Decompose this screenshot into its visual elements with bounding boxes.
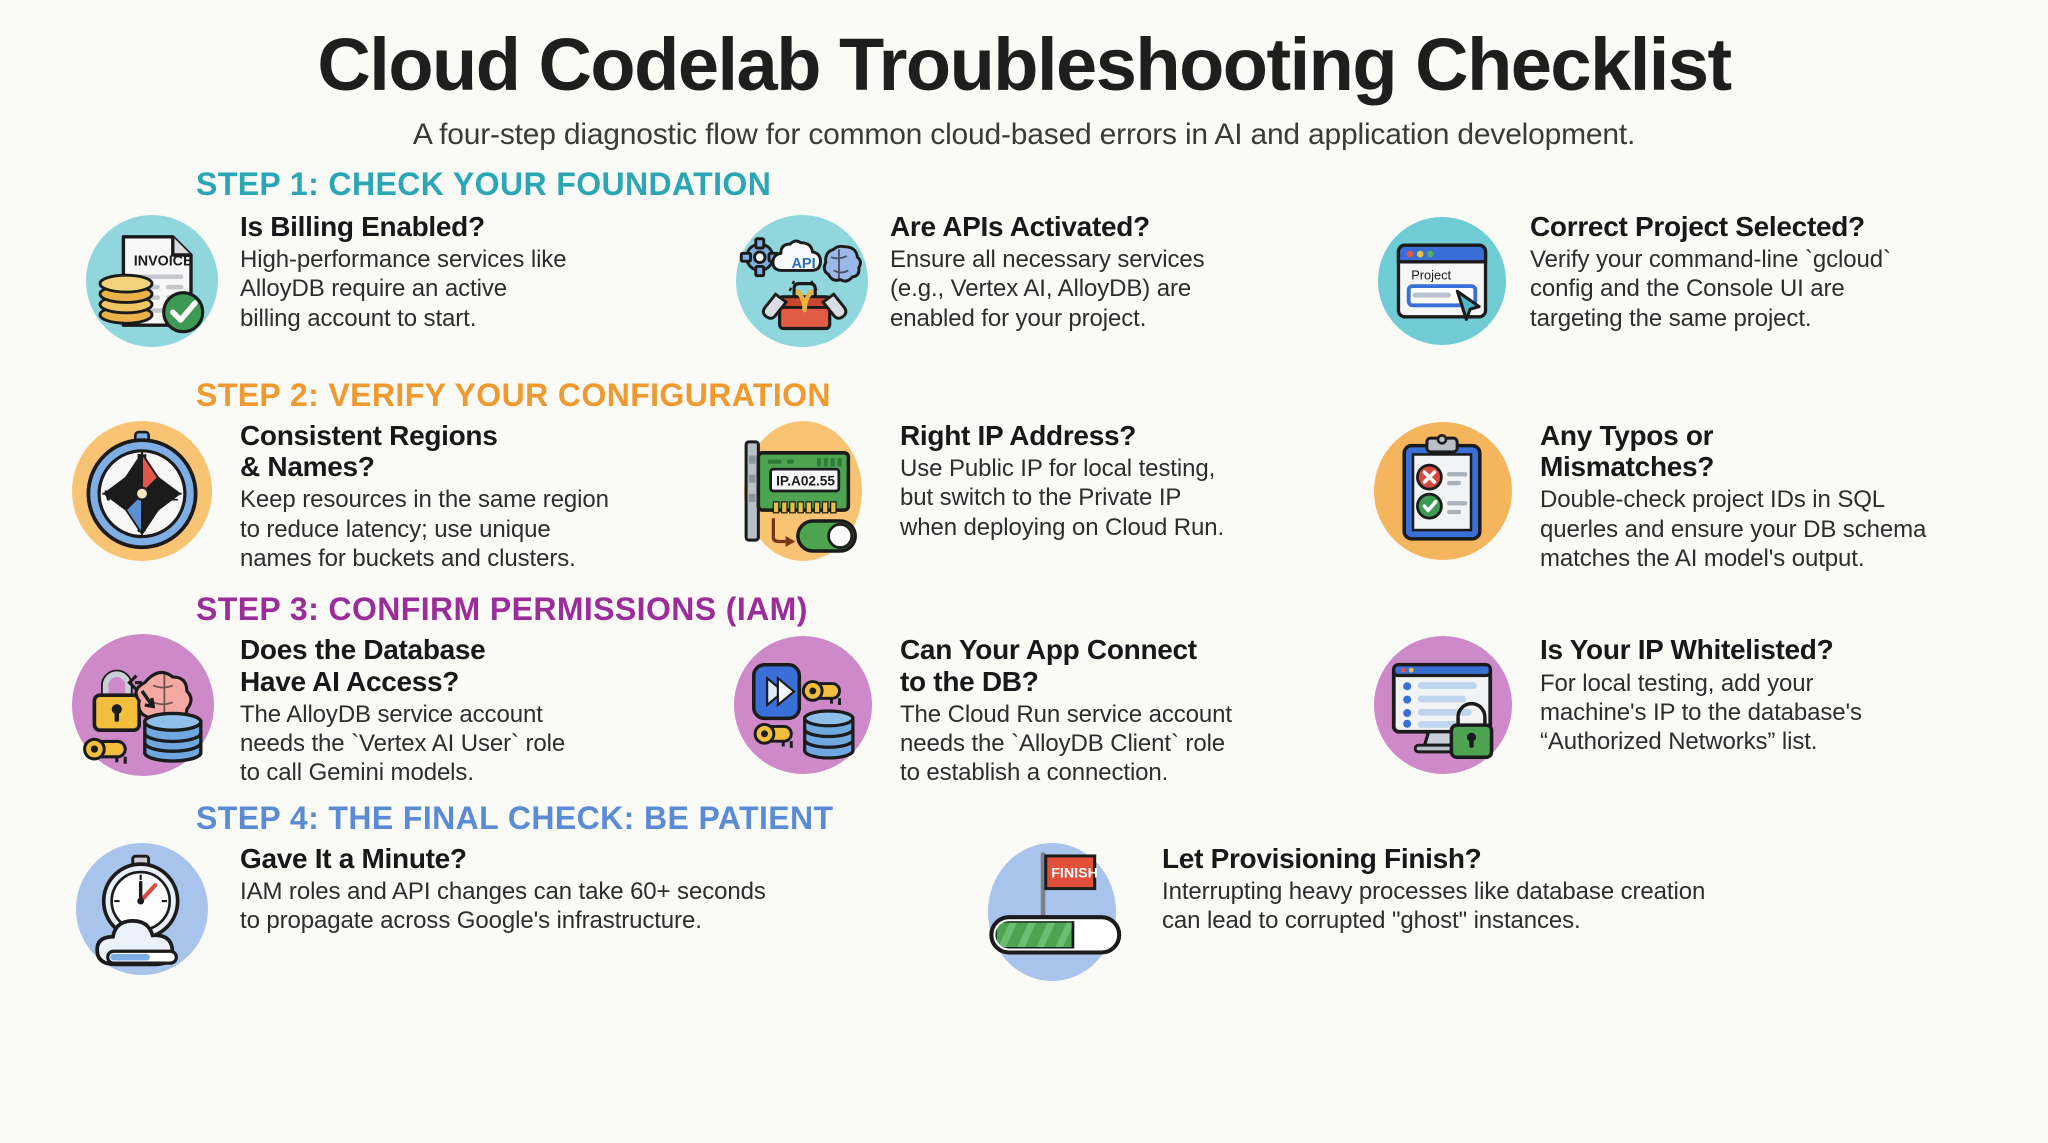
card-are-apis-activated[interactable]: API [728, 207, 1368, 355]
card-title: Is Your IP Whitelisted? [1540, 634, 1862, 665]
svg-text:Project: Project [1411, 267, 1451, 282]
app-key-database-icon [718, 630, 886, 780]
card-text: Let Provisioning Finish? Interrupting he… [1162, 839, 1705, 936]
card-text: Is Your IP Whitelisted? For local testin… [1540, 630, 1862, 756]
card-text: Consistent Regions & Names? Keep resourc… [240, 416, 609, 574]
card-body: Keep resources in the same region to red… [240, 485, 609, 573]
card-correct-project-selected[interactable]: Project Correct Project Selected? Verify… [1368, 207, 1968, 355]
card-let-provisioning-finish[interactable]: FINISH [968, 839, 2008, 979]
infographic-page: Cloud Codelab Troubleshooting Checklist … [0, 0, 2048, 1143]
card-body: For local testing, add your machine's IP… [1540, 669, 1862, 757]
step-2-row: N E S W [0, 416, 2048, 574]
card-right-ip-address[interactable]: IP.A02.55 Righ [718, 416, 1358, 566]
api-toolbox-icon: API [728, 207, 876, 355]
step-1-row: INVOICE [0, 207, 2048, 355]
network-card-ip-icon: IP.A02.55 [718, 416, 886, 566]
card-body: Use Public IP for local testing, but swi… [900, 454, 1224, 542]
card-body: The AlloyDB service account needs the `V… [240, 700, 565, 788]
card-title: Any Typos or Mismatches? [1540, 420, 1926, 483]
stopwatch-cloud-icon [58, 839, 226, 979]
step-3-section: STEP 3: CONFIRM PERMISSIONS (IAM) [0, 591, 2048, 788]
finish-flag-progress-icon: FINISH [968, 839, 1148, 979]
card-body: Verify your command-line `gcloud` config… [1530, 245, 1891, 333]
card-title: Is Billing Enabled? [240, 211, 566, 242]
card-body: Interrupting heavy processes like databa… [1162, 877, 1705, 936]
card-is-your-ip-whitelisted[interactable]: Is Your IP Whitelisted? For local testin… [1358, 630, 1958, 780]
step-2-section: STEP 2: VERIFY YOUR CONFIGURATION N E S … [0, 377, 2048, 574]
card-body: IAM roles and API changes can take 60+ s… [240, 877, 766, 936]
card-title: Can Your App Connect to the DB? [900, 634, 1232, 697]
step-3-heading: STEP 3: CONFIRM PERMISSIONS (IAM) [196, 591, 2048, 628]
page-title: Cloud Codelab Troubleshooting Checklist [0, 0, 2048, 104]
card-gave-it-a-minute[interactable]: Gave It a Minute? IAM roles and API chan… [58, 839, 918, 979]
card-body: Ensure all necessary services (e.g., Ver… [890, 245, 1205, 333]
card-body: The Cloud Run service account needs the … [900, 700, 1232, 788]
step-1-section: STEP 1: CHECK YOUR FOUNDATION INVOICE [0, 166, 2048, 355]
card-text: Are APIs Activated? Ensure all necessary… [890, 207, 1205, 333]
card-text: Any Typos or Mismatches? Double-check pr… [1540, 416, 1926, 574]
step-4-heading: STEP 4: THE FINAL CHECK: BE PATIENT [196, 800, 2048, 837]
card-title: Let Provisioning Finish? [1162, 843, 1705, 874]
card-database-ai-access[interactable]: Does the Database Have AI Access? The Al… [58, 630, 718, 788]
monitor-lock-icon [1358, 630, 1526, 780]
lock-brain-database-key-icon [58, 630, 226, 780]
finish-flag-label: FINISH [1051, 865, 1098, 881]
card-consistent-regions-and-names[interactable]: N E S W [58, 416, 718, 574]
svg-text:API: API [791, 255, 815, 271]
ip-card-label: IP.A02.55 [776, 473, 835, 488]
compass-icon: N E S W [58, 416, 226, 566]
card-body: Double-check project IDs in SQL querles … [1540, 485, 1926, 573]
step-1-heading: STEP 1: CHECK YOUR FOUNDATION [196, 166, 2048, 203]
card-text: Does the Database Have AI Access? The Al… [240, 630, 565, 788]
clipboard-checklist-icon [1358, 416, 1526, 566]
card-any-typos-or-mismatches[interactable]: Any Typos or Mismatches? Double-check pr… [1358, 416, 1958, 574]
card-title: Right IP Address? [900, 420, 1224, 451]
card-text: Can Your App Connect to the DB? The Clou… [900, 630, 1232, 788]
card-text: Correct Project Selected? Verify your co… [1530, 207, 1891, 333]
step-4-section: STEP 4: THE FINAL CHECK: BE PATIENT [0, 800, 2048, 979]
card-title: Correct Project Selected? [1530, 211, 1891, 242]
browser-project-cursor-icon: Project [1368, 207, 1516, 355]
card-title: Consistent Regions & Names? [240, 420, 609, 483]
card-text: Right IP Address? Use Public IP for loca… [900, 416, 1224, 542]
invoice-coins-check-icon: INVOICE [78, 207, 226, 355]
step-4-row: Gave It a Minute? IAM roles and API chan… [0, 839, 2048, 979]
card-title: Does the Database Have AI Access? [240, 634, 565, 697]
svg-text:INVOICE: INVOICE [134, 253, 193, 269]
card-title: Gave It a Minute? [240, 843, 766, 874]
card-text: Is Billing Enabled? High-performance ser… [240, 207, 566, 333]
page-subtitle: A four-step diagnostic flow for common c… [0, 118, 2048, 152]
card-title: Are APIs Activated? [890, 211, 1205, 242]
card-is-billing-enabled[interactable]: INVOICE [78, 207, 718, 355]
step-3-row: Does the Database Have AI Access? The Al… [0, 630, 2048, 788]
card-can-app-connect-to-db[interactable]: Can Your App Connect to the DB? The Clou… [718, 630, 1358, 788]
card-text: Gave It a Minute? IAM roles and API chan… [240, 839, 766, 936]
card-body: High-performance services like AlloyDB r… [240, 245, 566, 333]
step-2-heading: STEP 2: VERIFY YOUR CONFIGURATION [196, 377, 2048, 414]
